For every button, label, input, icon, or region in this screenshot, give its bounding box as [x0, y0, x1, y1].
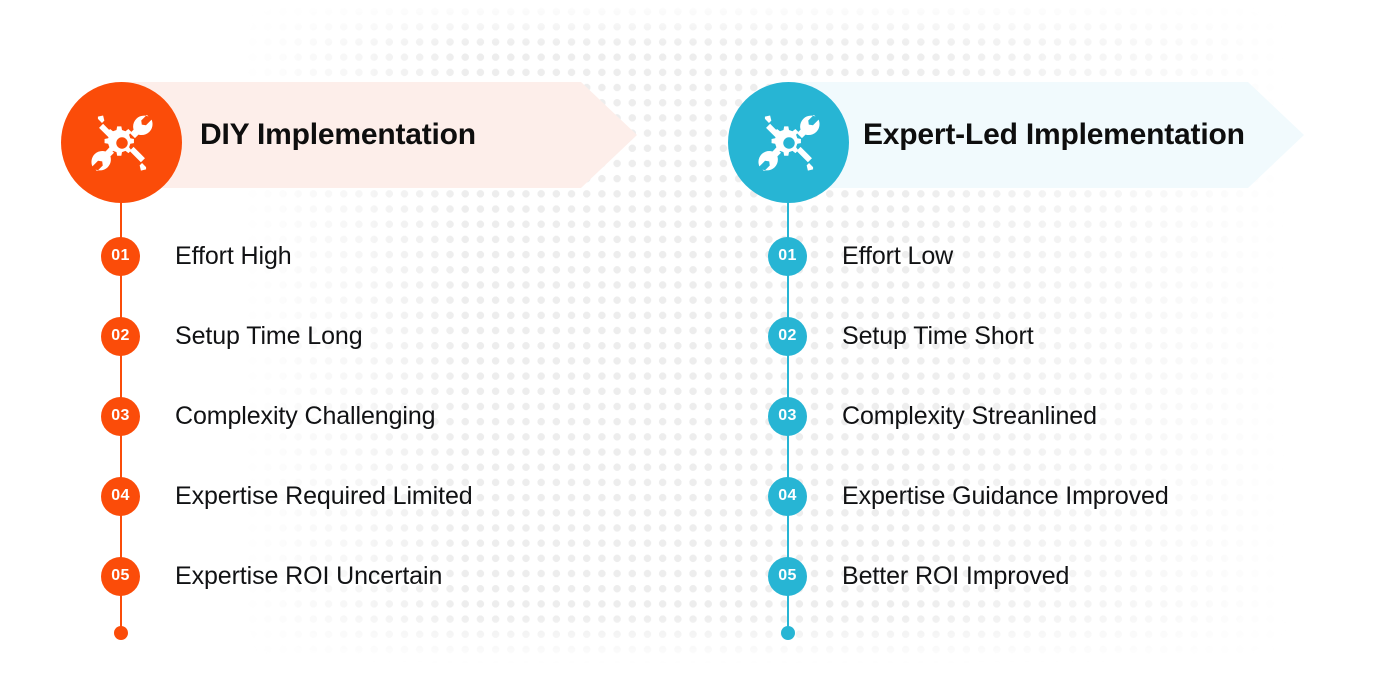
item-label: Setup Time Long — [175, 322, 363, 351]
item-number-badge: 01 — [768, 237, 807, 276]
tools-gear-wrench-pencil-icon — [753, 107, 825, 179]
item-label: Expertise Required Limited — [175, 482, 473, 511]
header-banner-diy: DIY Implementation — [121, 82, 637, 188]
item-number-badge: 03 — [768, 397, 807, 436]
list-item[interactable]: 03 Complexity Challenging — [101, 396, 435, 436]
item-label: Expertise ROI Uncertain — [175, 562, 442, 591]
list-item[interactable]: 02 Setup Time Short — [768, 316, 1034, 356]
list-item[interactable]: 01 Effort Low — [768, 236, 953, 276]
item-number-badge: 02 — [768, 317, 807, 356]
item-number-badge: 04 — [768, 477, 807, 516]
item-number-badge: 04 — [101, 477, 140, 516]
item-label: Effort Low — [842, 242, 953, 271]
item-label: Setup Time Short — [842, 322, 1034, 351]
item-label: Complexity Streanlined — [842, 402, 1097, 431]
list-item[interactable]: 05 Expertise ROI Uncertain — [101, 556, 442, 596]
item-number-badge: 05 — [768, 557, 807, 596]
header-icon-circle-expert — [728, 82, 849, 203]
item-number-badge: 02 — [101, 317, 140, 356]
list-item[interactable]: 03 Complexity Streanlined — [768, 396, 1097, 436]
timeline-end-dot-diy — [114, 626, 128, 640]
column-diy-implementation: DIY Implementation 01 Effort High 02 Set… — [0, 0, 700, 700]
list-item[interactable]: 02 Setup Time Long — [101, 316, 363, 356]
item-label: Better ROI Improved — [842, 562, 1069, 591]
header-icon-circle-diy — [61, 82, 182, 203]
header-title-diy: DIY Implementation — [200, 118, 476, 152]
item-label: Complexity Challenging — [175, 402, 435, 431]
list-item[interactable]: 04 Expertise Guidance Improved — [768, 476, 1169, 516]
list-item[interactable]: 04 Expertise Required Limited — [101, 476, 473, 516]
timeline-end-dot-expert — [781, 626, 795, 640]
header-banner-expert: Expert-Led Implementation — [788, 82, 1304, 188]
column-expert-led-implementation: Expert-Led Implementation 01 Effort Low … — [667, 0, 1400, 700]
tools-gear-wrench-pencil-icon — [86, 107, 158, 179]
item-number-badge: 05 — [101, 557, 140, 596]
item-label: Effort High — [175, 242, 292, 271]
item-number-badge: 03 — [101, 397, 140, 436]
item-label: Expertise Guidance Improved — [842, 482, 1169, 511]
item-number-badge: 01 — [101, 237, 140, 276]
header-title-expert: Expert-Led Implementation — [863, 118, 1245, 152]
list-item[interactable]: 05 Better ROI Improved — [768, 556, 1069, 596]
list-item[interactable]: 01 Effort High — [101, 236, 292, 276]
